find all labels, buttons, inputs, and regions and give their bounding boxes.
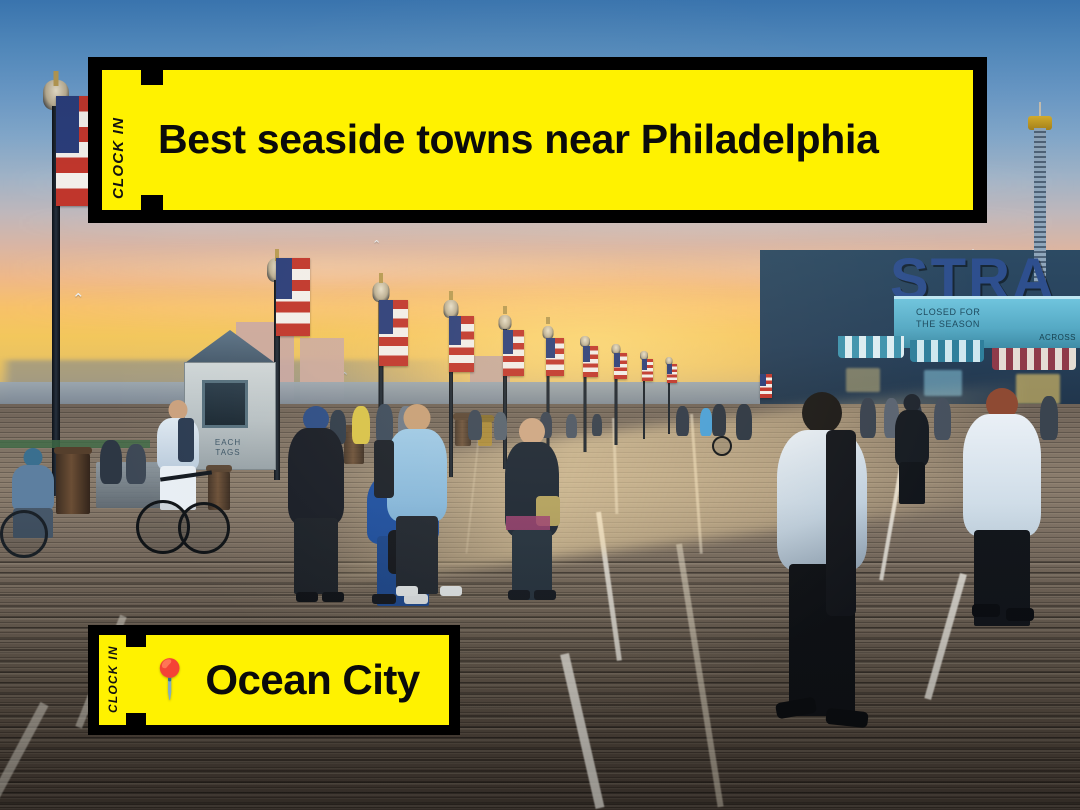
- bicycle-wheel: [712, 436, 732, 456]
- american-flag: [449, 316, 474, 372]
- pedestrian: [700, 408, 712, 436]
- pedestrian: [676, 406, 689, 436]
- title-banner-brand-tab: CLOCK IN: [110, 91, 127, 199]
- wheelchair-wheel: [0, 510, 48, 558]
- marquee-line-1: CLOSED FOR: [916, 307, 981, 317]
- location-banner-content: 📍 Ocean City: [146, 625, 442, 735]
- booth-roof: [169, 330, 291, 364]
- location-banner-tab-top: [126, 635, 146, 647]
- booth-sign: EACH TAGS: [192, 438, 264, 458]
- seagull-icon: ⌃: [72, 292, 85, 307]
- seagull-icon: ⌃: [372, 240, 381, 251]
- pedestrian: [712, 404, 726, 436]
- shop-awning: [910, 340, 984, 362]
- pedestrian-dark: [894, 394, 930, 504]
- pedestrian: [934, 398, 951, 440]
- apron: [826, 430, 856, 616]
- american-flag: [583, 346, 598, 377]
- american-flag: [760, 374, 772, 398]
- booth-sign-line-2: TAGS: [215, 448, 240, 457]
- booth-sign-line-1: EACH: [215, 438, 241, 447]
- shoe: [396, 586, 418, 596]
- map-pin-icon: 📍: [146, 661, 193, 699]
- shoe: [508, 590, 530, 600]
- shop-awning: [992, 348, 1076, 370]
- shoe: [296, 592, 318, 602]
- title-banner: CLOCK IN Best seaside towns near Philade…: [88, 57, 987, 223]
- pedestrian: [592, 414, 602, 436]
- scarf: [506, 516, 550, 530]
- american-flag: [546, 338, 564, 376]
- pedestrian: [566, 414, 577, 438]
- location-banner-tab-bottom: [126, 713, 146, 725]
- shoe: [322, 592, 344, 602]
- shoe: [534, 590, 556, 600]
- pedestrian-dark-coat: [286, 406, 346, 602]
- american-flag: [667, 364, 677, 383]
- pedestrian: [100, 440, 122, 484]
- trash-can: [56, 452, 90, 514]
- page-title: Best seaside towns near Philadelphia: [158, 57, 957, 223]
- pedestrian-white-hoodie: [962, 388, 1042, 626]
- american-flag: [503, 330, 524, 376]
- shoulder-bag: [374, 440, 394, 498]
- pedestrian: [352, 406, 370, 444]
- backpack: [178, 418, 194, 462]
- shoe: [972, 604, 1000, 617]
- pedestrian: [468, 410, 482, 440]
- location-banner-notch-top: [126, 625, 146, 635]
- booth-window: [202, 380, 248, 428]
- shoe: [1006, 608, 1034, 621]
- american-flag: [642, 359, 653, 381]
- location-banner-brand-tab: CLOCK IN: [106, 649, 120, 713]
- shoe: [372, 594, 396, 604]
- location-name: Ocean City: [205, 656, 419, 704]
- pedestrian: [1040, 396, 1058, 440]
- pedestrian: [126, 444, 146, 484]
- american-flag: [614, 353, 627, 379]
- shop-awning: [838, 336, 904, 358]
- american-flag: [379, 300, 408, 366]
- location-banner: CLOCK IN 📍 Ocean City: [88, 625, 460, 735]
- location-banner-notch-bottom: [126, 725, 146, 735]
- marquee-line-2: THE SEASON: [916, 319, 980, 329]
- screenshot-stage: ⌃ ⌃ ⌃ ⌃ ⌃ STRA CLOSED FOR THE SEASON ACR…: [0, 0, 1080, 810]
- pedestrian: [736, 404, 752, 440]
- shoe: [440, 586, 462, 596]
- shop-light: [846, 368, 880, 392]
- pedestrian-light-blue: [386, 404, 448, 594]
- american-flag: [276, 258, 310, 336]
